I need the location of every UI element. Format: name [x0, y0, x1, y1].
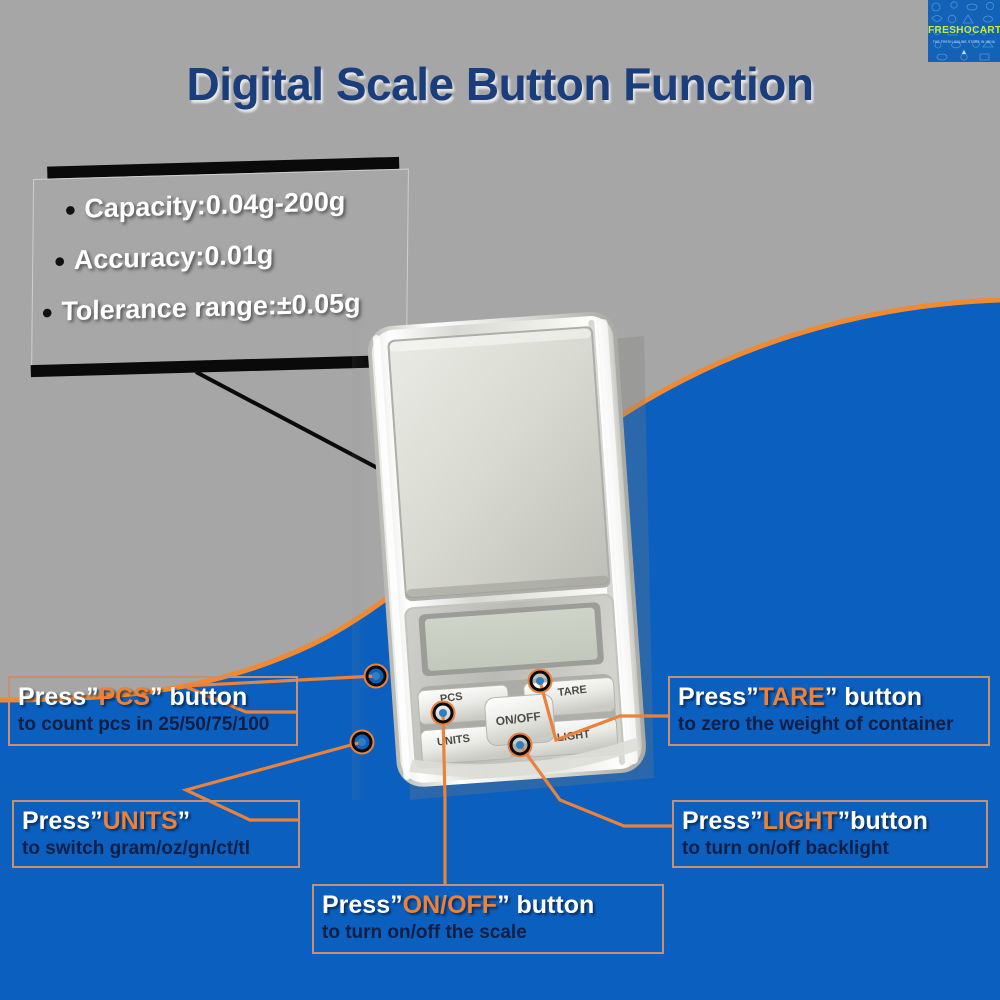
digital-scale-device: PCS TARE ON/OFF UNITS LIGHT: [352, 300, 672, 800]
spec-item-capacity: Capacity:0.04g-200g: [36, 175, 396, 236]
callout-onoff-keyword: ON/OFF: [403, 891, 497, 919]
callout-tare-title: Press”TARE” button: [678, 682, 980, 712]
callout-pcs-keyword: PCS: [99, 683, 150, 711]
callout-tare-detail: to zero the weight of container: [678, 713, 980, 736]
specs-list: Capacity:0.04g-200g Accuracy:0.01g Toler…: [35, 175, 396, 338]
scale-illustration: PCS TARE ON/OFF UNITS LIGHT: [352, 300, 672, 800]
callout-light-detail: to turn on/off backlight: [682, 837, 978, 860]
callout-pcs-title: Press”PCS” button: [18, 682, 288, 712]
callout-pcs-detail: to count pcs in 25/50/75/100: [18, 713, 288, 736]
callout-units[interactable]: Press”UNITS” to switch gram/oz/gn/ct/tl: [12, 800, 300, 868]
infographic-canvas: FRESHOCART THE FRESH ONLINE STORE IN IND…: [0, 0, 1000, 1000]
callout-units-keyword: UNITS: [103, 807, 178, 835]
callout-tare-keyword: TARE: [759, 683, 825, 711]
callout-light-keyword: LIGHT: [763, 807, 838, 835]
callout-onoff[interactable]: Press”ON/OFF” button to turn on/off the …: [312, 884, 664, 954]
spec-item-tolerance: Tolerance range:±0.05g: [35, 277, 395, 338]
callout-onoff-detail: to turn on/off the scale: [322, 921, 654, 944]
callout-light[interactable]: Press”LIGHT”button to turn on/off backli…: [672, 800, 988, 868]
callout-units-title: Press”UNITS”: [22, 806, 290, 836]
callout-pcs[interactable]: Press”PCS” button to count pcs in 25/50/…: [8, 676, 298, 746]
callout-light-title: Press”LIGHT”button: [682, 806, 978, 836]
callout-units-detail: to switch gram/oz/gn/ct/tl: [22, 837, 290, 860]
callout-onoff-title: Press”ON/OFF” button: [322, 890, 654, 920]
callout-tare[interactable]: Press”TARE” button to zero the weight of…: [668, 676, 990, 746]
